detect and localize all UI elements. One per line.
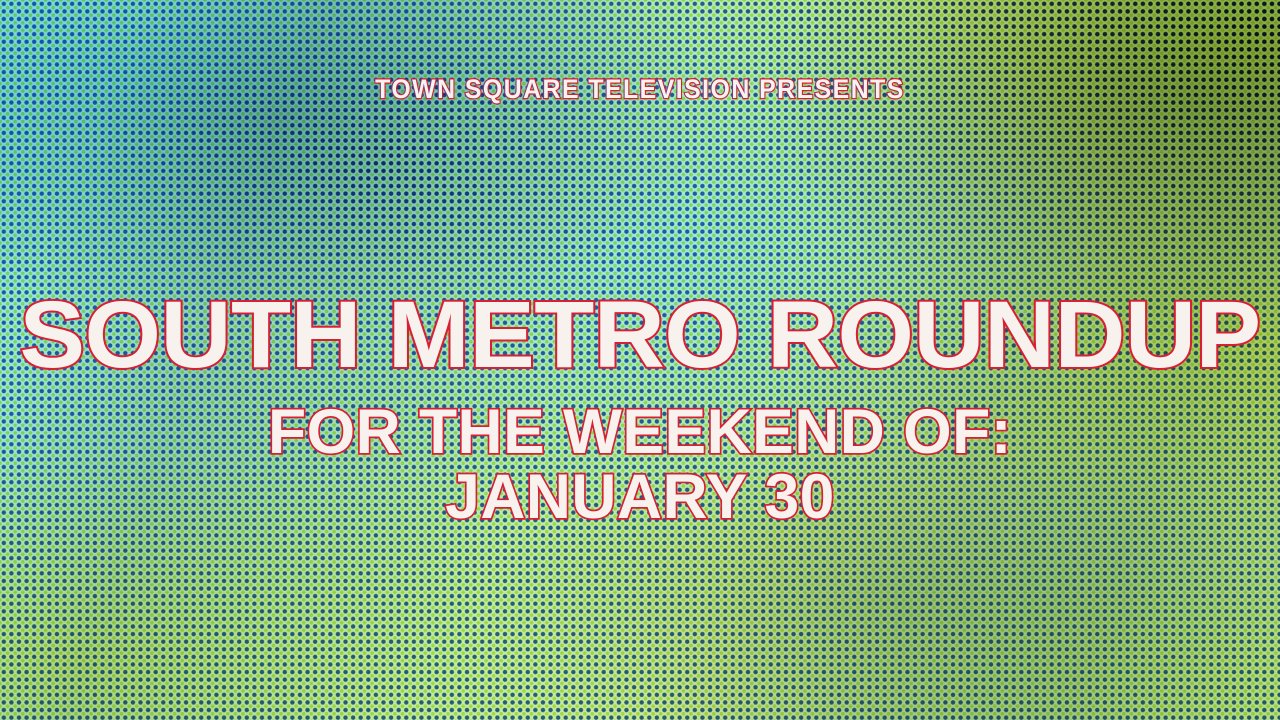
subtitle-block: FOR THE WEEKEND OF: JANUARY 30 bbox=[6, 400, 1273, 530]
weekend-date: JANUARY 30 bbox=[6, 465, 1273, 530]
title-card-content: TOWN SQUARE TELEVISION PRESENTS SOUTH ME… bbox=[0, 0, 1280, 720]
weekend-of-label: FOR THE WEEKEND OF: bbox=[268, 397, 1012, 467]
program-title: SOUTH METRO ROUNDUP bbox=[0, 288, 1280, 383]
title-card: TOWN SQUARE TELEVISION PRESENTS SOUTH ME… bbox=[0, 0, 1280, 720]
presenter-kicker-text: TOWN SQUARE TELEVISION PRESENTS bbox=[51, 76, 1229, 103]
